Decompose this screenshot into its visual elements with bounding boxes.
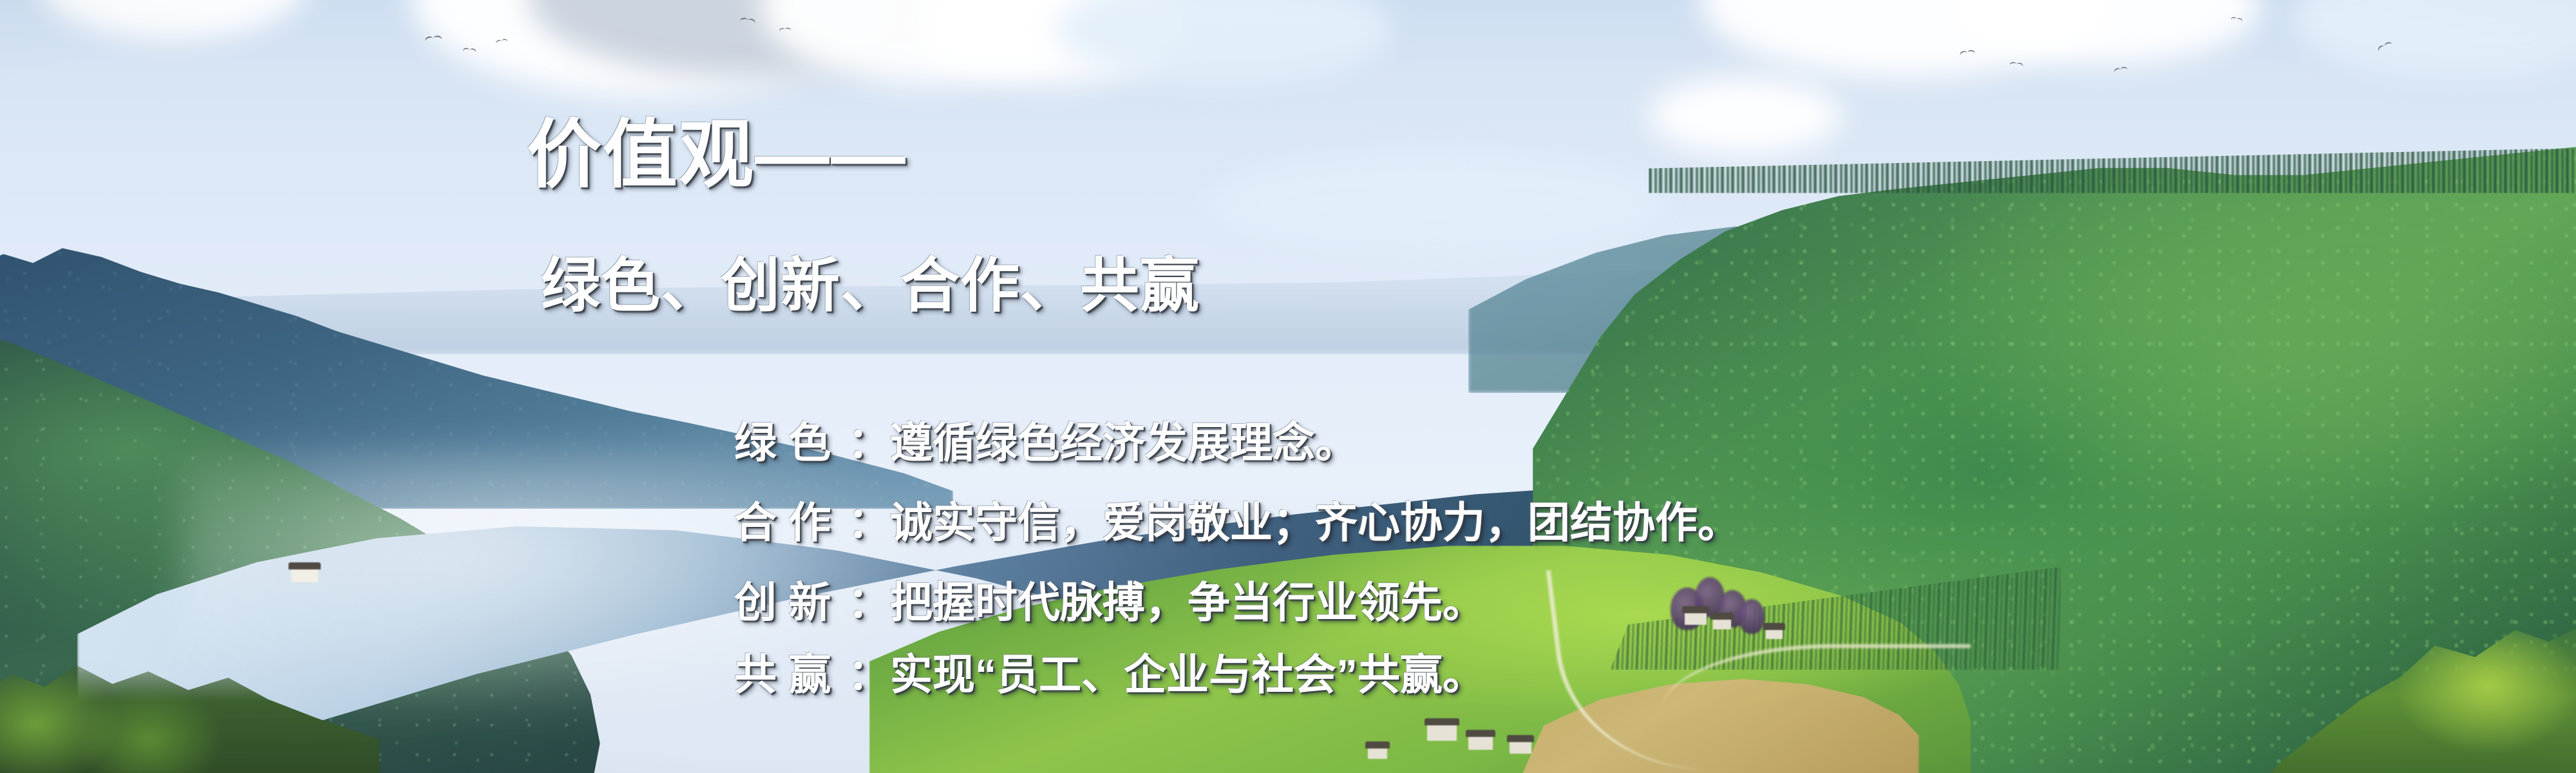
value-text: 实现“员工、企业与社会”共赢。 xyxy=(890,651,1485,698)
hut-roof xyxy=(1682,606,1709,613)
value-item-winwin: 共 赢：实现“员工、企业与社会”共赢。 xyxy=(663,611,1485,738)
value-separator: ： xyxy=(848,651,890,698)
page-title: 价值观—— xyxy=(527,117,907,192)
farmhouse xyxy=(291,568,318,582)
village-hut xyxy=(1713,618,1731,629)
village-hut xyxy=(1766,629,1783,639)
village-hut xyxy=(1368,747,1387,759)
hut-roof xyxy=(1365,741,1390,749)
value-label: 共 赢 xyxy=(734,653,848,696)
hut-roof xyxy=(1763,623,1785,630)
hut-roof xyxy=(289,562,321,569)
values-subtitle: 绿色、创新、合作、共赢 xyxy=(541,256,1200,316)
village-hut xyxy=(1685,612,1707,625)
banner-image: 价值观—— 绿色、创新、合作、共赢 绿 色：遵循绿色经济发展理念。 合 作：诚实… xyxy=(0,0,2576,773)
purple-tree xyxy=(1739,599,1765,634)
hut-roof xyxy=(1507,735,1534,742)
value-label: 绿 色 xyxy=(734,421,848,464)
value-label: 合 作 xyxy=(734,501,848,544)
village-hut xyxy=(1510,741,1531,754)
hut-roof xyxy=(1710,613,1734,620)
